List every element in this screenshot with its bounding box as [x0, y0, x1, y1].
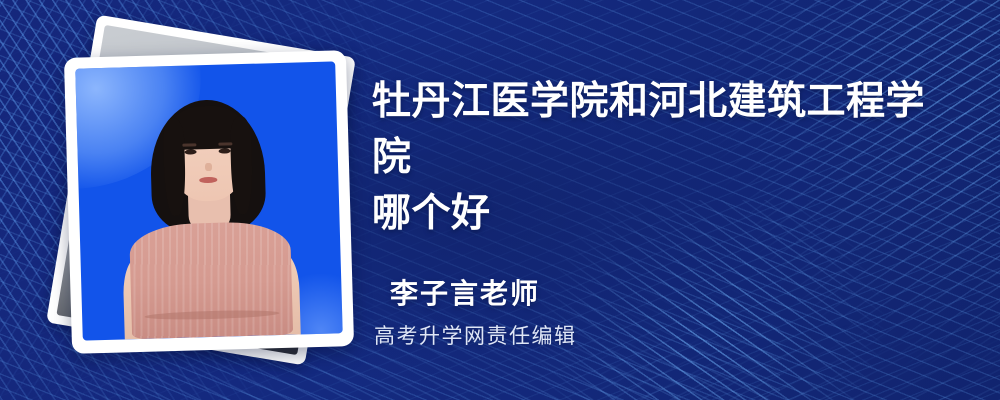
article-cover-banner: 牡丹江医学院和河北建筑工程学院 哪个好 李子言老师 高考升学网责任编辑 — [0, 0, 1000, 400]
portrait-figure — [75, 61, 342, 340]
hair-side-right — [230, 115, 254, 213]
dress-torso — [129, 221, 293, 340]
banner-title-line-2: 哪个好 — [372, 186, 957, 242]
photo-frame-front — [64, 50, 354, 354]
banner-title-line-1: 牡丹江医学院和河北建筑工程学院 — [372, 74, 957, 186]
eyebrow-right — [219, 142, 233, 145]
author-portrait-photo — [75, 61, 342, 340]
author-photo-stack — [46, 28, 352, 368]
author-name: 李子言老师 — [390, 272, 540, 312]
eyebrow-left — [183, 143, 197, 146]
author-role: 高考升学网责任编辑 — [374, 320, 577, 350]
nose — [205, 163, 211, 171]
banner-title: 牡丹江医学院和河北建筑工程学院 哪个好 — [372, 74, 957, 242]
banner-text-content: 牡丹江医学院和河北建筑工程学院 哪个好 李子言老师 高考升学网责任编辑 — [372, 0, 972, 400]
